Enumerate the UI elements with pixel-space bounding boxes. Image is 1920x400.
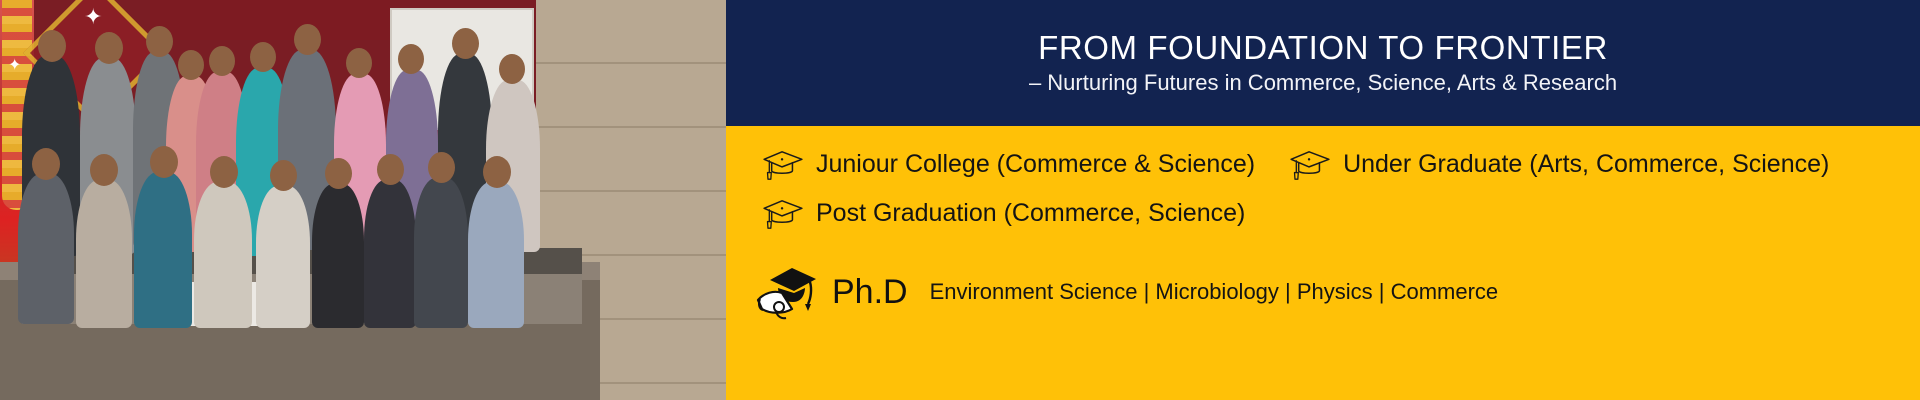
person-figure [468,182,524,328]
doctorate-row[interactable]: Ph.D Environment Science | Microbiology … [726,262,1920,322]
person-head [483,156,511,188]
graduation-cap-diploma-icon [748,262,820,322]
person-figure [256,186,310,328]
person-figure [134,172,192,328]
doctorate-subjects: Environment Science | Microbiology | Phy… [930,281,1499,303]
person-head [90,154,118,186]
program-label: Under Graduate (Arts, Commerce, Science) [1343,152,1829,177]
person-head [499,54,525,84]
person-head [95,32,123,64]
programs-row-1: Juniour College (Commerce & Science) Und… [760,140,1920,189]
person-head [377,154,404,185]
graduation-cap-outline-icon [760,197,806,231]
person-head [38,30,66,62]
person-head [294,24,321,55]
graduation-cap-outline-icon [760,148,806,182]
person-head [209,46,235,76]
person-figure [364,180,416,328]
person-head [346,48,372,78]
content-panel: FROM FOUNDATION TO FRONTIER – Nurturing … [726,0,1920,400]
person-head [325,158,352,189]
graduation-cap-outline-icon [1287,148,1333,182]
program-label: Juniour College (Commerce & Science) [816,152,1255,177]
maroon-wall [150,0,390,40]
programs-list: Juniour College (Commerce & Science) Und… [726,140,1920,238]
person-head [210,156,238,188]
person-head [32,148,60,180]
person-head [398,44,424,74]
person-head [146,26,173,57]
banner-title: FROM FOUNDATION TO FRONTIER [1038,30,1608,66]
person-figure [414,178,468,328]
person-figure [18,174,74,324]
programs-row-2: Post Graduation (Commerce, Science) [760,189,1920,238]
person-figure [312,184,364,328]
program-item-junior-college[interactable]: Juniour College (Commerce & Science) [760,148,1255,182]
banner-header: FROM FOUNDATION TO FRONTIER – Nurturing … [726,0,1920,126]
person-figure [194,182,252,328]
program-label: Post Graduation (Commerce, Science) [816,201,1245,226]
person-head [428,152,455,183]
programs-section: Juniour College (Commerce & Science) Und… [726,126,1920,400]
doctorate-title: Ph.D [832,275,908,309]
person-head [452,28,479,59]
person-head [250,42,276,72]
banner-subtitle: – Nurturing Futures in Commerce, Science… [1029,70,1617,96]
person-head [178,50,204,80]
person-figure [76,180,132,328]
promotional-banner: ✦ ✦ [0,0,1920,400]
group-photo: ✦ ✦ [0,0,726,400]
person-head [150,146,178,178]
star-icon: ✦ [84,6,102,28]
person-head [270,160,297,191]
program-item-post-graduation[interactable]: Post Graduation (Commerce, Science) [760,197,1245,231]
star-icon: ✦ [8,58,21,74]
program-item-under-graduate[interactable]: Under Graduate (Arts, Commerce, Science) [1287,148,1829,182]
